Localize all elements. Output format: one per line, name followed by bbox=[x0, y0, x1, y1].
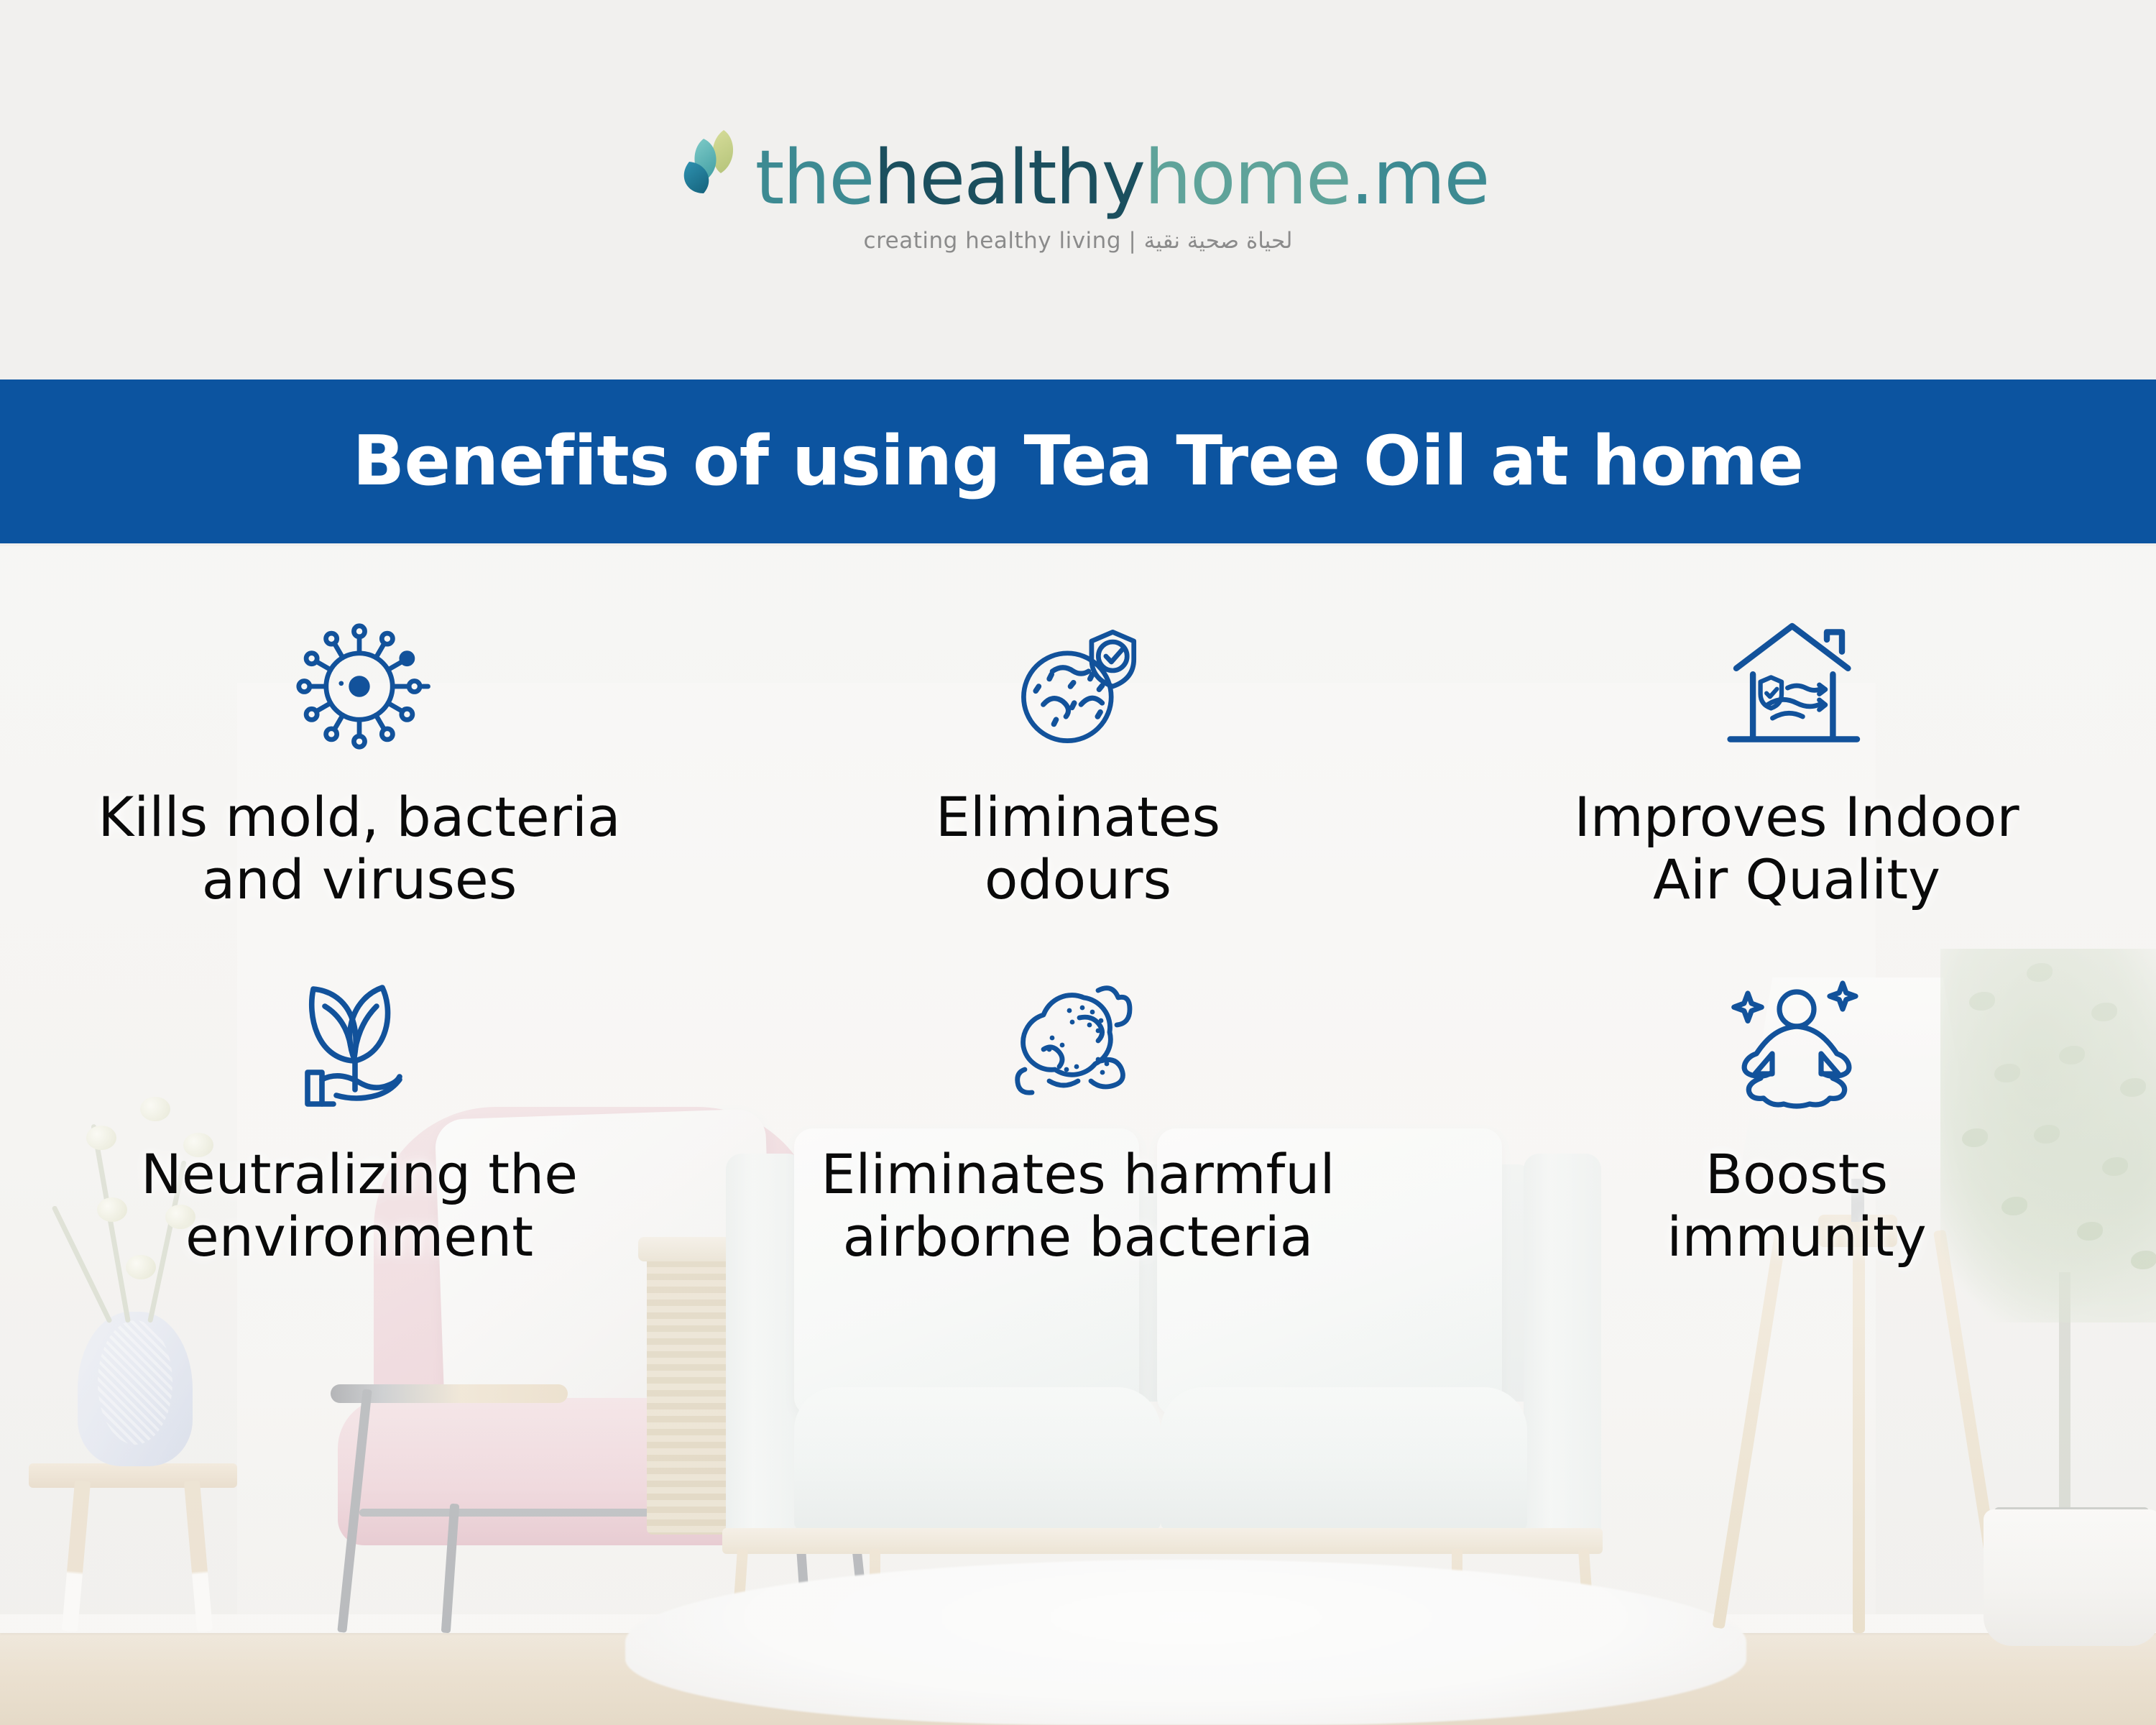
benefit-label: Improves IndoorAir Quality bbox=[1574, 786, 2019, 911]
header: thehealthyhome.me creating healthy livin… bbox=[0, 0, 2156, 379]
brand-logo[interactable]: thehealthyhome.me creating healthy livin… bbox=[668, 126, 1489, 254]
benefits-row-2: Neutralizing theenvironment bbox=[0, 961, 2156, 1268]
sofa-seat bbox=[1161, 1387, 1527, 1531]
benefit-item-neutralizing-the-environment[interactable]: Neutralizing theenvironment bbox=[0, 961, 719, 1268]
tagline-english: creating healthy living | bbox=[864, 228, 1137, 254]
benefit-label: Eliminates harmfulairborne bacteria bbox=[821, 1144, 1335, 1268]
tagline-arabic: لحياة صحية نقية bbox=[1144, 228, 1293, 254]
virus-icon bbox=[284, 604, 435, 769]
white-fluffy-rug bbox=[625, 1560, 1746, 1725]
logo-word-home: home bbox=[1144, 134, 1350, 221]
benefit-label: Kills mold, bacteriaand viruses bbox=[98, 786, 620, 911]
title-banner: Benefits of using Tea Tree Oil at home bbox=[0, 379, 2156, 543]
logo-word-the: the bbox=[755, 134, 874, 221]
benefit-item-eliminates-harmful-airborne-bacteria[interactable]: Eliminates harmfulairborne bacteria bbox=[719, 961, 1437, 1268]
house-air-quality-icon bbox=[1721, 604, 1872, 769]
meditation-sparkle-icon bbox=[1725, 961, 1869, 1126]
wooden-stool bbox=[29, 1463, 237, 1488]
benefit-item-kills-mold-bacteria-viruses[interactable]: Kills mold, bacteriaand viruses bbox=[0, 604, 719, 911]
potted-tree-pot bbox=[1984, 1509, 2156, 1646]
benefit-label: Eliminatesodours bbox=[936, 786, 1220, 911]
benefit-item-boosts-immunity[interactable]: Boostsimmunity bbox=[1437, 961, 2156, 1268]
benefit-label: Boostsimmunity bbox=[1667, 1144, 1926, 1268]
sofa-base-frame bbox=[722, 1528, 1603, 1554]
germ-cloud-icon bbox=[1006, 961, 1150, 1126]
sofa-seat bbox=[794, 1387, 1161, 1531]
brand-tagline: creating healthy living | لحياة صحية نقي… bbox=[864, 228, 1293, 254]
page-title: Benefits of using Tea Tree Oil at home bbox=[353, 422, 1804, 501]
butterfly-leaf-mark-icon bbox=[668, 126, 748, 211]
infographic-poster: thehealthyhome.me creating healthy livin… bbox=[0, 0, 2156, 1725]
benefit-label: Neutralizing theenvironment bbox=[141, 1144, 578, 1268]
petri-dish-shield-icon bbox=[1003, 604, 1153, 769]
benefit-item-eliminates-odours[interactable]: Eliminatesodours bbox=[719, 604, 1437, 911]
benefits-row-1: Kills mold, bacteriaand viruses bbox=[0, 604, 2156, 911]
benefit-item-improves-indoor-air-quality[interactable]: Improves IndoorAir Quality bbox=[1437, 604, 2156, 911]
lamp-leg bbox=[1853, 1230, 1865, 1633]
flower-vase bbox=[78, 1312, 193, 1466]
hand-plant-icon bbox=[287, 961, 431, 1126]
logo-word-healthy: healthy bbox=[873, 134, 1144, 221]
logo-word-me: .me bbox=[1350, 134, 1488, 221]
benefits-grid: Kills mold, bacteriaand viruses bbox=[0, 604, 2156, 1269]
